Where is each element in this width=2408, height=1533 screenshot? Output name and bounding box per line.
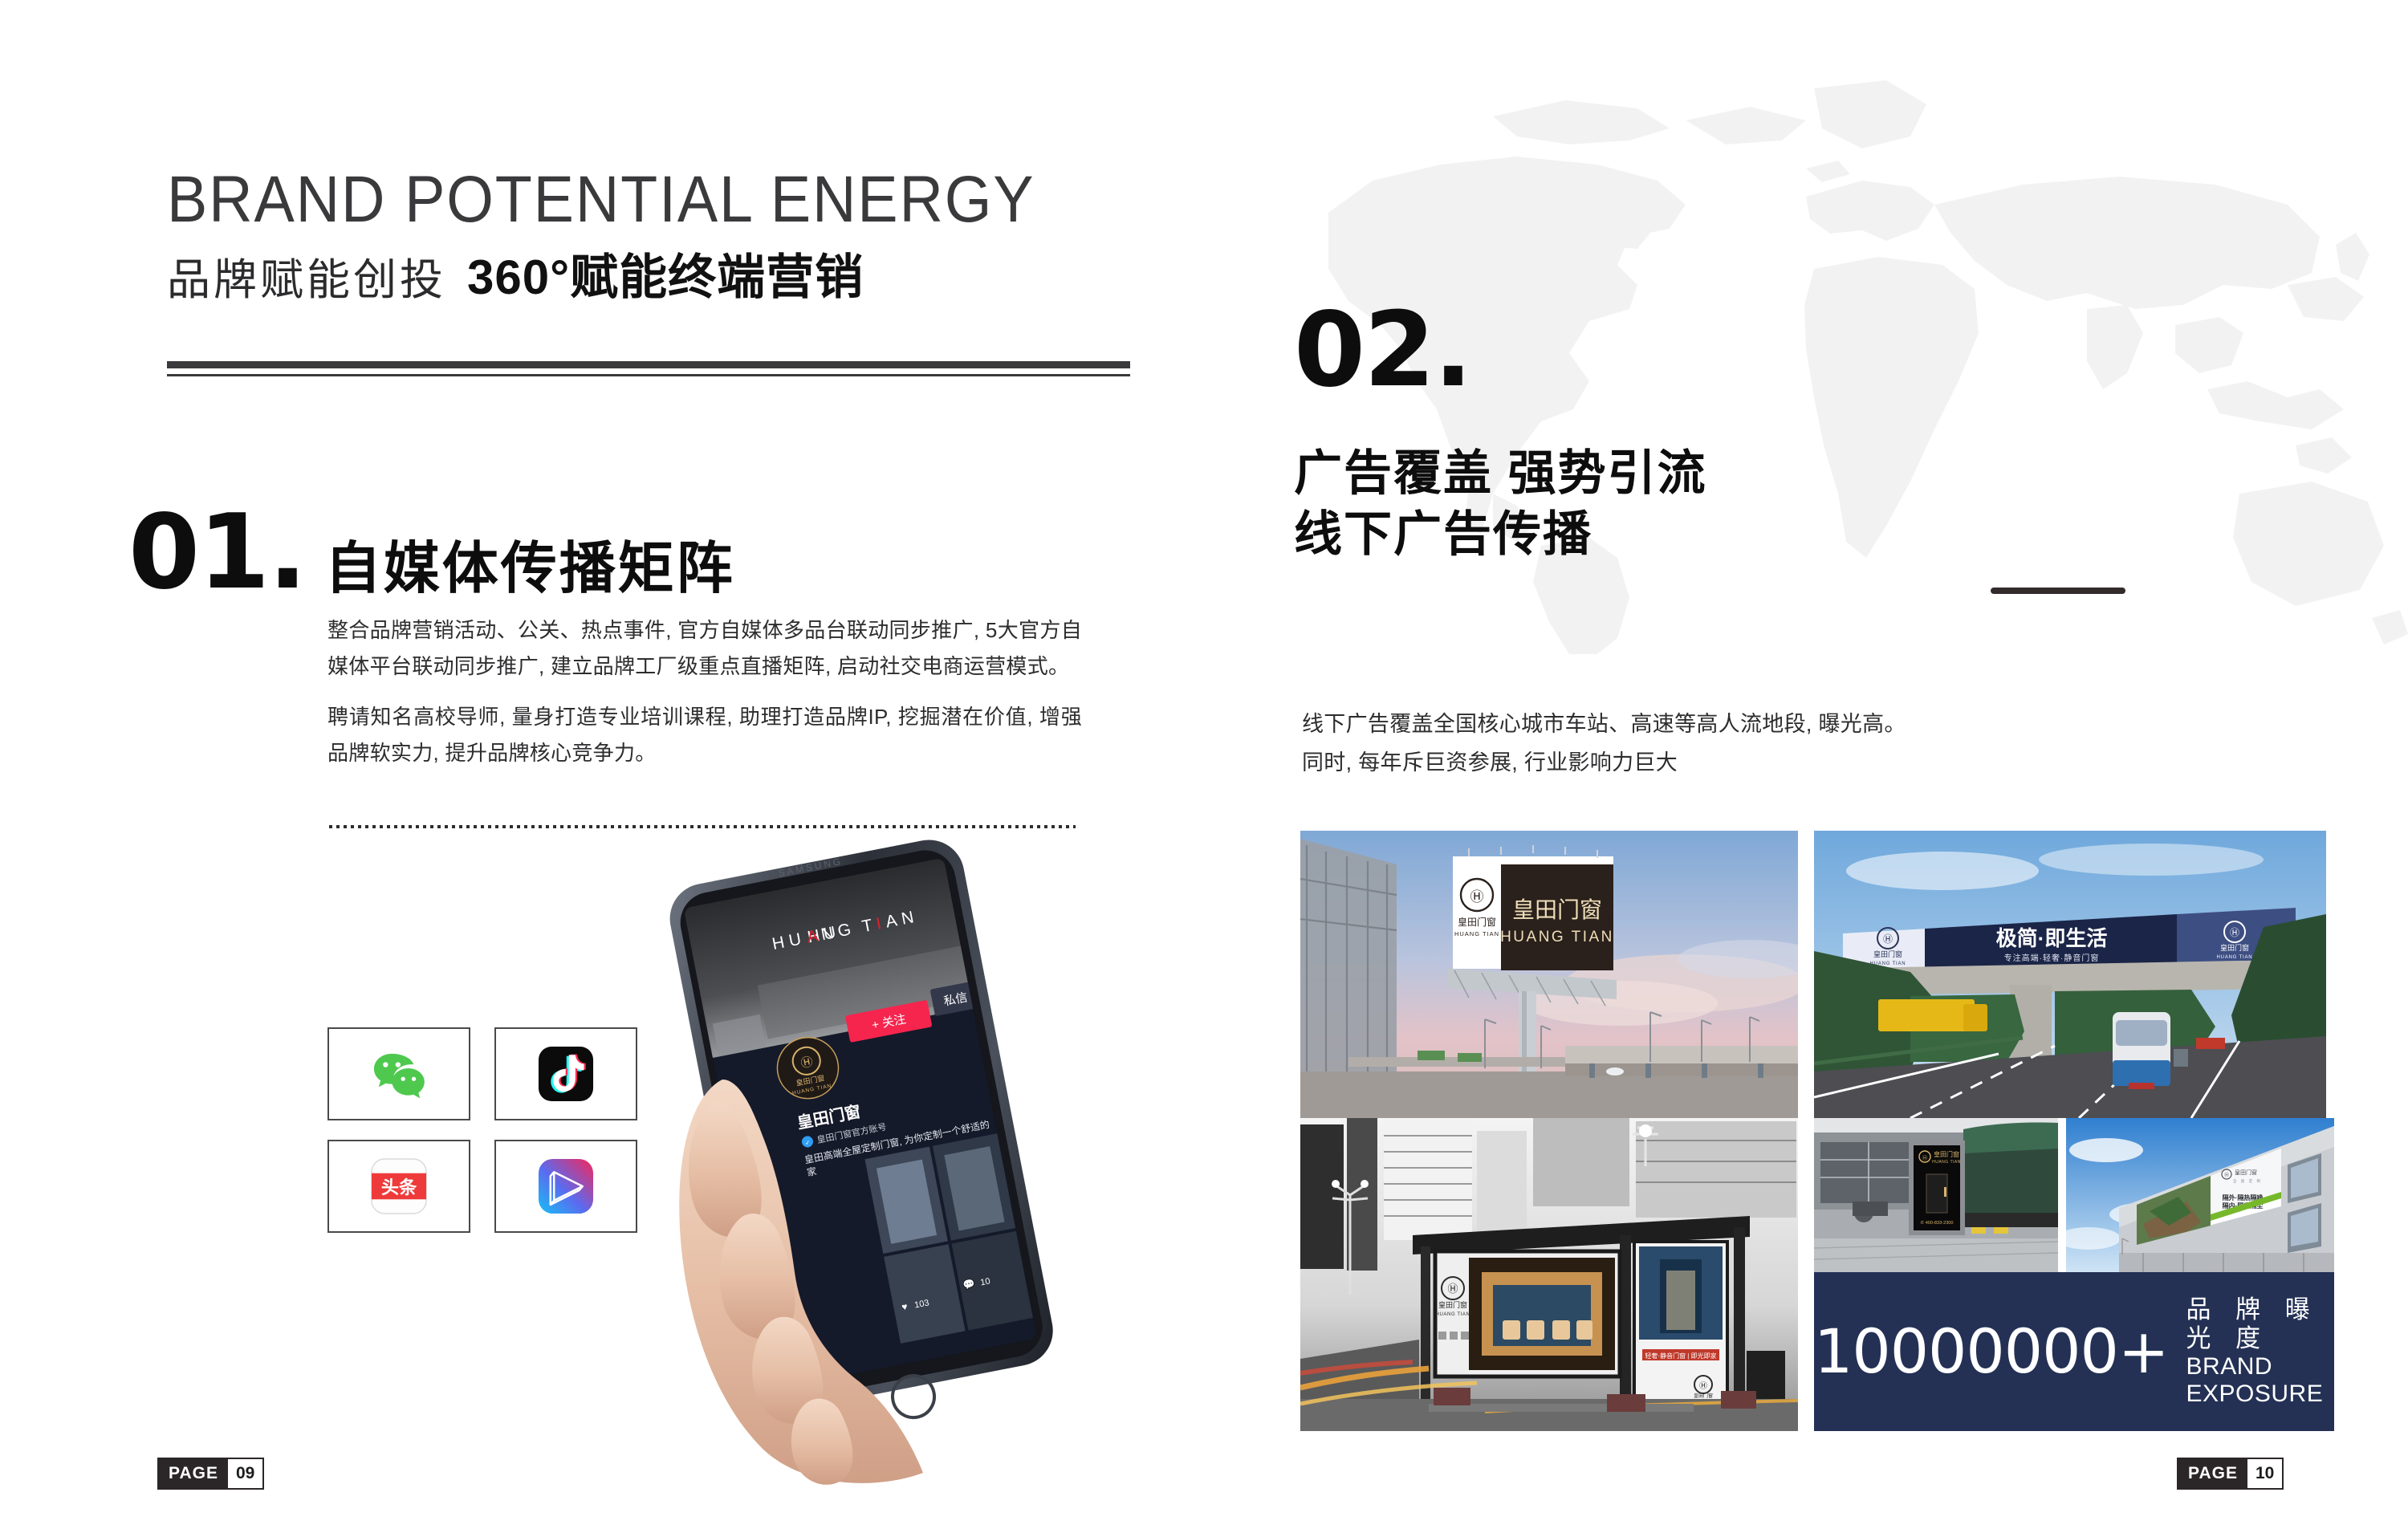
section-02-heading: 02. bbox=[1294, 303, 1471, 398]
toutiao-icon: 头条 bbox=[369, 1157, 429, 1216]
page-subtitle: 品牌赋能创投 360°赋能终端营销 bbox=[167, 254, 864, 302]
social-cell-toutiao[interactable]: 头条 bbox=[327, 1140, 470, 1233]
xigua-video-icon bbox=[536, 1157, 596, 1216]
social-cell-xigua-video[interactable] bbox=[494, 1140, 637, 1233]
exposure-number: 10000000+ bbox=[1814, 1321, 2169, 1382]
svg-text:Ⓗ: Ⓗ bbox=[799, 1055, 814, 1071]
svg-text:💬: 💬 bbox=[962, 1278, 975, 1291]
svg-text:Ⓗ: Ⓗ bbox=[1699, 1381, 1707, 1391]
page-badge-right-number: 10 bbox=[2247, 1459, 2282, 1488]
wechat-icon bbox=[369, 1044, 429, 1104]
page-badge-left-number: 09 bbox=[228, 1459, 262, 1488]
svg-text:皇田门窗: 皇田门窗 bbox=[1512, 897, 1602, 922]
slide-page: BRAND POTENTIAL ENERGY 品牌赋能创投 360°赋能终端营销… bbox=[0, 0, 2408, 1533]
social-platform-grid: 头条 bbox=[327, 1027, 637, 1233]
divider-thick-line bbox=[167, 361, 1130, 368]
section-02-paragraph-2: 同时, 每年斥巨资参展, 行业影响力巨大 bbox=[1302, 743, 2105, 782]
svg-text:头条: 头条 bbox=[381, 1177, 417, 1198]
social-cell-douyin[interactable] bbox=[494, 1027, 637, 1120]
section-01-number: 01. bbox=[128, 506, 306, 600]
page-subtitle-light: 品牌赋能创投 bbox=[167, 258, 446, 302]
right-photo-column: Ⓗ 皇田门窗 HUANG TIAN ✆ 400-833-2300 bbox=[1814, 1118, 2326, 1431]
title-divider bbox=[167, 361, 1130, 376]
page-badge-left: PAGE 09 bbox=[157, 1458, 264, 1490]
svg-text:Ⓗ: Ⓗ bbox=[1447, 1283, 1458, 1295]
page-title: BRAND POTENTIAL ENERGY bbox=[167, 167, 1035, 233]
exposure-label-en: BRAND EXPOSURE bbox=[2186, 1353, 2334, 1408]
station-lightbox-photo[interactable]: Ⓗ 皇田门窗 HUANG TIAN ✆ 400-833-2300 bbox=[1814, 1118, 2058, 1272]
svg-text:皇田门窗: 皇田门窗 bbox=[1873, 949, 1902, 958]
svg-text:Ⓗ: Ⓗ bbox=[1922, 1155, 1928, 1161]
section-01-title: 自媒体传播矩阵 bbox=[325, 540, 735, 596]
page-subtitle-bold: 360°赋能终端营销 bbox=[467, 254, 864, 302]
svg-text:皇田门窗: 皇田门窗 bbox=[1458, 916, 1496, 928]
exposure-label-block: 品 牌 曝 光 度 BRAND EXPOSURE bbox=[2186, 1295, 2334, 1408]
svg-text:极简·即生活: 极简·即生活 bbox=[1996, 926, 2108, 950]
page-badge-right-label: PAGE bbox=[2178, 1459, 2247, 1488]
section-01-paragraph-2: 聘请知名高校导师, 量身打造专业培训课程, 助理打造品牌IP, 挖掘潜在价值, … bbox=[327, 699, 1082, 771]
section-01-heading: 01. 自媒体传播矩阵 bbox=[128, 506, 735, 600]
svg-text:Ⓗ: Ⓗ bbox=[2224, 1172, 2229, 1178]
page-badge-right: PAGE 10 bbox=[2177, 1458, 2284, 1490]
svg-text:HUANG TIAN: HUANG TIAN bbox=[1500, 929, 1614, 945]
bus-shelter-lightbox-photo[interactable]: Ⓗ 皇田门窗 HUANG TIAN 轻奢·静音门窗 | 即光即家 Ⓗ 皇田门窗 bbox=[1300, 1118, 1798, 1431]
section-02-title-line-1: 广告覆盖 强势引流 bbox=[1294, 443, 1707, 504]
exposure-label-cn: 品 牌 曝 光 度 bbox=[2186, 1295, 2334, 1353]
svg-text:HUANG TIAN: HUANG TIAN bbox=[1454, 930, 1499, 937]
section-01-body: 整合品牌营销活动、公关、热点事件, 官方自媒体多品台联动同步推广, 5大官方自媒… bbox=[327, 612, 1082, 771]
svg-text:皇田门窗: 皇田门窗 bbox=[2220, 943, 2249, 952]
advertising-photo-grid: Ⓗ 皇田门窗 HUANG TIAN 皇田门窗 HUANG TIAN bbox=[1300, 831, 2326, 1431]
svg-text:轻奢·静音门窗 | 即光即家: 轻奢·静音门窗 | 即光即家 bbox=[1645, 1352, 1716, 1360]
highway-billboard-photo[interactable]: Ⓗ 皇田门窗 HUANG TIAN 皇田门窗 HUANG TIAN bbox=[1300, 831, 1798, 1118]
section-02-paragraph-1: 线下广告覆盖全国核心城市车站、高速等高人流地段, 曝光高。 bbox=[1302, 705, 2105, 743]
building-wall-billboard-photo[interactable]: Ⓗ 皇田门窗 全 屋 定 制 隔外·隔热隔噪 隔内·隔音隔尘 bbox=[2066, 1118, 2334, 1272]
svg-text:10: 10 bbox=[979, 1276, 990, 1287]
svg-text:Ⓗ: Ⓗ bbox=[1883, 933, 1893, 945]
section-02-body: 线下广告覆盖全国核心城市车站、高速等高人流地段, 曝光高。 同时, 每年斥巨资参… bbox=[1302, 705, 2105, 782]
section-01-paragraph-1: 整合品牌营销活动、公关、热点事件, 官方自媒体多品台联动同步推广, 5大官方自媒… bbox=[327, 612, 1082, 685]
section-02-title-line-2: 线下广告传播 bbox=[1294, 504, 1707, 565]
section-02-title: 广告覆盖 强势引流 线下广告传播 bbox=[1294, 443, 1707, 565]
section-02-accent-rule bbox=[1991, 588, 2125, 594]
dotted-divider bbox=[329, 825, 1076, 828]
svg-text:皇田门窗: 皇田门窗 bbox=[1934, 1150, 1959, 1158]
svg-text:专注高端·轻奢·静音门窗: 专注高端·轻奢·静音门窗 bbox=[2004, 953, 2100, 963]
phone-mockup: HU HU A NG T I AN + 关注 私信 bbox=[666, 839, 1164, 1489]
page-badge-left-label: PAGE bbox=[159, 1459, 228, 1488]
svg-text:HUANG TIAN: HUANG TIAN bbox=[1932, 1160, 1961, 1165]
overpass-banner-photo[interactable]: 极简·即生活 专注高端·轻奢·静音门窗 Ⓗ 皇田门窗 HUANG TIAN Ⓗ … bbox=[1814, 831, 2326, 1118]
right-photo-row: Ⓗ 皇田门窗 HUANG TIAN ✆ 400-833-2300 bbox=[1814, 1118, 2334, 1272]
svg-text:HUANG TIAN: HUANG TIAN bbox=[2217, 955, 2253, 960]
brand-exposure-banner: 10000000+ 品 牌 曝 光 度 BRAND EXPOSURE bbox=[1814, 1272, 2334, 1431]
svg-text:✆ 400-833-2300: ✆ 400-833-2300 bbox=[1920, 1220, 1953, 1226]
svg-text:皇田门窗: 皇田门窗 bbox=[1694, 1393, 1713, 1399]
svg-text:皇田门窗: 皇田门窗 bbox=[1438, 1300, 1467, 1309]
svg-text:Ⓗ: Ⓗ bbox=[1470, 889, 1484, 905]
svg-text:全 屋 定 制: 全 屋 定 制 bbox=[2233, 1178, 2262, 1184]
social-cell-wechat[interactable] bbox=[327, 1027, 470, 1120]
divider-thin-line bbox=[167, 374, 1130, 376]
svg-text:HUANG TIAN: HUANG TIAN bbox=[1436, 1312, 1470, 1317]
douyin-icon bbox=[536, 1044, 596, 1104]
svg-text:Ⓗ: Ⓗ bbox=[2230, 927, 2239, 938]
svg-text:皇田门窗: 皇田门窗 bbox=[2235, 1169, 2257, 1176]
section-02-number: 02. bbox=[1294, 291, 1471, 410]
